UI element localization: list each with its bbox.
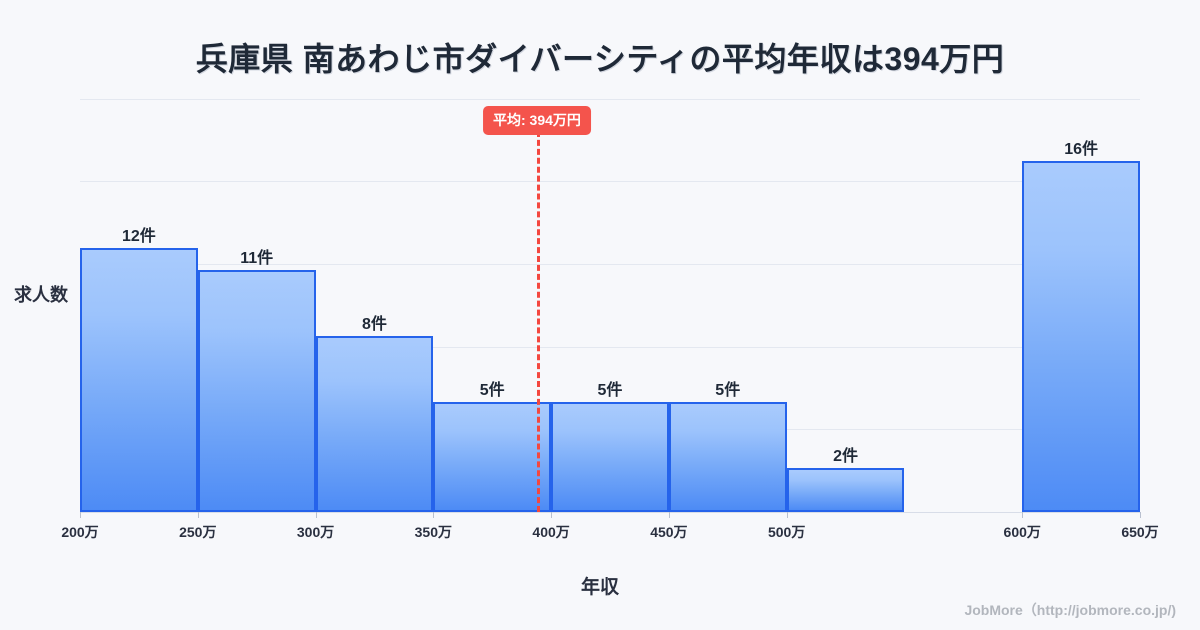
x-axis-title: 年収 (0, 572, 1200, 599)
bar-value-label: 8件 (316, 310, 434, 334)
gridline (80, 99, 1140, 100)
bar (198, 270, 316, 512)
bar (787, 468, 905, 512)
x-tick-label: 600万 (1004, 522, 1041, 542)
page-title: 兵庫県 南あわじ市ダイバーシティの平均年収は394万円 (0, 34, 1200, 80)
x-tick-label: 250万 (179, 522, 216, 542)
x-tick-label: 200万 (61, 522, 98, 542)
x-tick-label: 650万 (1121, 522, 1158, 542)
bar (669, 402, 787, 512)
x-tick-label: 450万 (650, 522, 687, 542)
average-badge: 平均: 394万円 (483, 106, 591, 135)
watermark: JobMore（http://jobmore.co.jp/) (964, 600, 1176, 620)
x-tick-mark (433, 512, 434, 518)
x-tick-label: 500万 (768, 522, 805, 542)
y-axis-title: 求人数 (14, 281, 68, 307)
x-tick-mark (198, 512, 199, 518)
bar-value-label: 5件 (669, 376, 787, 400)
bar (551, 402, 669, 512)
bar-value-label: 16件 (1022, 135, 1140, 159)
bar-value-label: 5件 (551, 376, 669, 400)
x-tick-mark (1140, 512, 1141, 518)
bar-value-label: 12件 (80, 222, 198, 246)
x-tick-mark (1022, 512, 1023, 518)
bar (433, 402, 551, 512)
bar-value-label: 2件 (787, 442, 905, 466)
x-tick-label: 300万 (297, 522, 334, 542)
chart-page: 兵庫県 南あわじ市ダイバーシティの平均年収は394万円 12件11件8件5件5件… (0, 0, 1200, 630)
x-tick-mark (787, 512, 788, 518)
x-tick-mark (669, 512, 670, 518)
bar-value-label: 5件 (433, 376, 551, 400)
average-line (537, 131, 540, 512)
x-tick-label: 350万 (415, 522, 452, 542)
bar (80, 248, 198, 512)
x-tick-mark (80, 512, 81, 518)
x-tick-label: 400万 (532, 522, 569, 542)
gridline (80, 181, 1140, 182)
bar (316, 336, 434, 512)
x-axis-line (80, 512, 1140, 513)
bar (1022, 161, 1140, 512)
x-tick-mark (316, 512, 317, 518)
bar-value-label: 11件 (198, 244, 316, 268)
x-tick-mark (551, 512, 552, 518)
